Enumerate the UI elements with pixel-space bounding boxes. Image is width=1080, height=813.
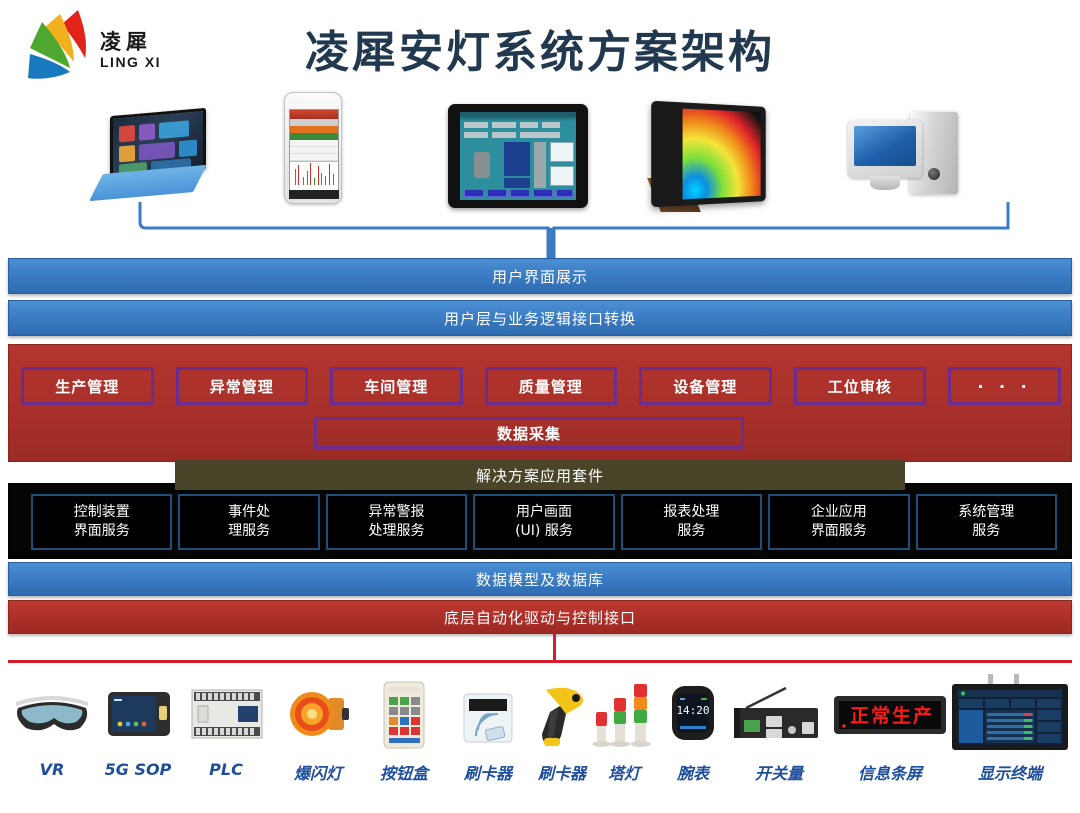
vr-glasses-icon — [6, 672, 98, 754]
module-station-audit-label: 工位审核 — [828, 376, 892, 397]
device-io-gateway-label: 开关量 — [726, 760, 832, 784]
data-collection-label: 数据采集 — [497, 423, 561, 444]
service-control-device-ui[interactable]: 控制装置 界面服务 — [31, 494, 172, 550]
device-vr-label: VR — [6, 760, 98, 779]
device-tower-light-label: 塔灯 — [588, 760, 660, 784]
field-bus-connector — [0, 634, 1080, 674]
service-line2: 处理服务 — [369, 522, 425, 541]
button-box-icon — [358, 672, 450, 754]
smartphone-image — [284, 92, 342, 208]
io-gateway-icon — [726, 672, 832, 754]
smartwatch-time: 14:20 — [676, 704, 709, 717]
page-header: 凌犀 LING XI 凌犀安灯系统方案架构 — [0, 0, 1080, 92]
surface-tablet-image — [96, 112, 214, 208]
service-line2: 理服务 — [228, 522, 270, 541]
ipad-body — [448, 104, 588, 208]
plc-module-icon — [180, 672, 272, 754]
bus-horizontal-line — [8, 660, 1072, 663]
layer-automation-driver-label: 底层自动化驱动与控制接口 — [444, 607, 636, 628]
layer-interface-conversion: 用户层与业务逻辑接口转换 — [8, 300, 1072, 336]
device-to-layer-connector — [0, 196, 1080, 258]
layer-data-model-db-label: 数据模型及数据库 — [476, 569, 604, 590]
layer-ui-presentation: 用户界面展示 — [8, 258, 1072, 294]
display-terminal-icon — [944, 672, 1076, 754]
device-5g-sop-label: 5G SOP — [92, 760, 184, 779]
service-line1: 事件处 — [228, 503, 270, 522]
service-line1: 报表处理 — [663, 503, 719, 522]
service-line2: 服务 — [972, 522, 1000, 541]
smartwatch-icon: 14:20 — [654, 672, 732, 754]
module-more-label: · · · — [977, 377, 1031, 396]
phone-body — [284, 92, 342, 204]
desktop-pc-image — [848, 112, 962, 204]
service-enterprise-app-ui[interactable]: 企业应用 界面服务 — [768, 494, 909, 550]
service-event-processing[interactable]: 事件处 理服务 — [178, 494, 319, 550]
device-strobe-label: 爆闪灯 — [272, 760, 364, 784]
led-ticker-text: 正常生产 — [850, 704, 934, 727]
service-line1: 企业应用 — [811, 503, 867, 522]
solution-suite-banner: 解决方案应用套件 — [175, 460, 905, 490]
service-system-management[interactable]: 系统管理 服务 — [916, 494, 1057, 550]
card-reader-icon — [442, 672, 534, 754]
device-led-ticker-label: 信息条屏 — [826, 760, 954, 784]
module-exception-label: 异常管理 — [210, 376, 274, 397]
bus-drop-line — [553, 634, 556, 662]
service-line2: (UI) 服务 — [515, 522, 573, 541]
ipad-hmi-image — [448, 104, 588, 208]
module-row: 生产管理 异常管理 车间管理 质量管理 设备管理 工位审核 · · · — [21, 367, 1061, 405]
layer-interface-conversion-label: 用户层与业务逻辑接口转换 — [444, 308, 636, 329]
service-line1: 用户画面 — [516, 503, 572, 522]
device-display-terminal-label: 显示终端 — [944, 760, 1076, 784]
module-more[interactable]: · · · — [948, 367, 1061, 405]
service-row: 控制装置 界面服务 事件处 理服务 异常警报 处理服务 用户画面 (UI) 服务… — [31, 494, 1057, 550]
layer-ui-presentation-label: 用户界面展示 — [492, 266, 588, 287]
data-collection-box[interactable]: 数据采集 — [314, 417, 744, 449]
ipad-hmi-screen — [460, 112, 576, 200]
module-workshop-label: 车间管理 — [364, 376, 428, 397]
service-line2: 界面服务 — [811, 522, 867, 541]
tablet-body — [651, 101, 766, 208]
device-plc-label: PLC — [180, 760, 272, 779]
service-line1: 异常警报 — [369, 503, 425, 522]
android-tablet-image — [652, 104, 782, 208]
led-ticker-icon: 正常生产 — [826, 672, 954, 754]
module-quality[interactable]: 质量管理 — [485, 367, 618, 405]
service-report-processing[interactable]: 报表处理 服务 — [621, 494, 762, 550]
strobe-beacon-icon — [272, 672, 364, 754]
pc-monitor-stand — [870, 176, 900, 190]
module-workshop[interactable]: 车间管理 — [330, 367, 463, 405]
tower-light-icon — [588, 672, 660, 754]
module-production[interactable]: 生产管理 — [21, 367, 154, 405]
service-line1: 控制装置 — [74, 503, 130, 522]
module-equipment-label: 设备管理 — [673, 376, 737, 397]
module-exception[interactable]: 异常管理 — [176, 367, 309, 405]
rugged-tablet-icon — [92, 672, 184, 754]
solution-suite-label: 解决方案应用套件 — [476, 465, 604, 486]
service-exception-alarm[interactable]: 异常警报 处理服务 — [326, 494, 467, 550]
phone-trend-chart — [290, 161, 338, 189]
pc-monitor — [848, 120, 922, 178]
module-quality-label: 质量管理 — [519, 376, 583, 397]
module-production-label: 生产管理 — [55, 376, 119, 397]
module-equipment[interactable]: 设备管理 — [639, 367, 772, 405]
power-button-icon — [928, 168, 940, 180]
service-panel: 控制装置 界面服务 事件处 理服务 异常警报 处理服务 用户画面 (UI) 服务… — [8, 483, 1072, 559]
phone-screen — [289, 109, 339, 191]
business-module-panel: 生产管理 异常管理 车间管理 质量管理 设备管理 工位审核 · · · 数据采集 — [8, 344, 1072, 462]
device-card-reader-label: 刷卡器 — [442, 760, 534, 784]
service-line2: 界面服务 — [74, 522, 130, 541]
module-station-audit[interactable]: 工位审核 — [794, 367, 927, 405]
service-line1: 系统管理 — [958, 503, 1014, 522]
layer-automation-driver: 底层自动化驱动与控制接口 — [8, 600, 1072, 634]
tablet-wallpaper-screen — [683, 109, 761, 200]
layer-data-model-db: 数据模型及数据库 — [8, 562, 1072, 596]
device-smartwatch-label: 腕表 — [654, 760, 732, 784]
service-line2: 服务 — [677, 522, 705, 541]
device-button-box-label: 按钮盒 — [358, 760, 450, 784]
service-user-ui[interactable]: 用户画面 (UI) 服务 — [473, 494, 614, 550]
pc-monitor-screen — [854, 126, 916, 166]
field-device-row: VR 5G SOP — [0, 672, 1080, 813]
page-title: 凌犀安灯系统方案架构 — [0, 16, 1080, 80]
